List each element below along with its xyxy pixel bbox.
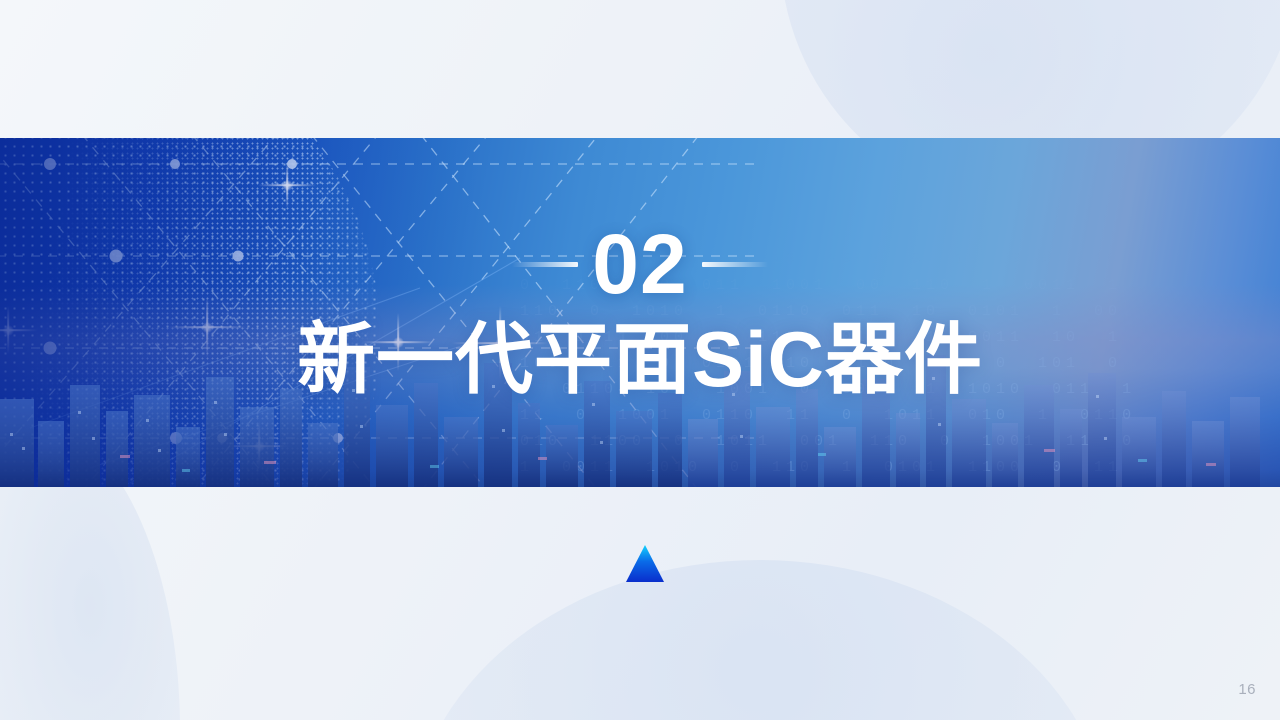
background-circle-bottom-center [410, 560, 1110, 720]
section-number-row: 02 [512, 224, 767, 305]
right-dash-decoration [702, 262, 768, 267]
triangle-marker-icon [625, 544, 665, 583]
slide-root: 10 01 0110 00 10 1001 0 11 0100 10 0 110… [0, 0, 1280, 720]
banner-text-block: 02 新一代平面SiC器件 [0, 138, 1280, 487]
section-title: 新一代平面SiC器件 [297, 318, 983, 401]
left-dash-decoration [512, 262, 578, 267]
page-number: 16 [1238, 681, 1256, 698]
section-banner: 10 01 0110 00 10 1001 0 11 0100 10 0 110… [0, 138, 1280, 487]
section-number: 02 [592, 224, 687, 305]
